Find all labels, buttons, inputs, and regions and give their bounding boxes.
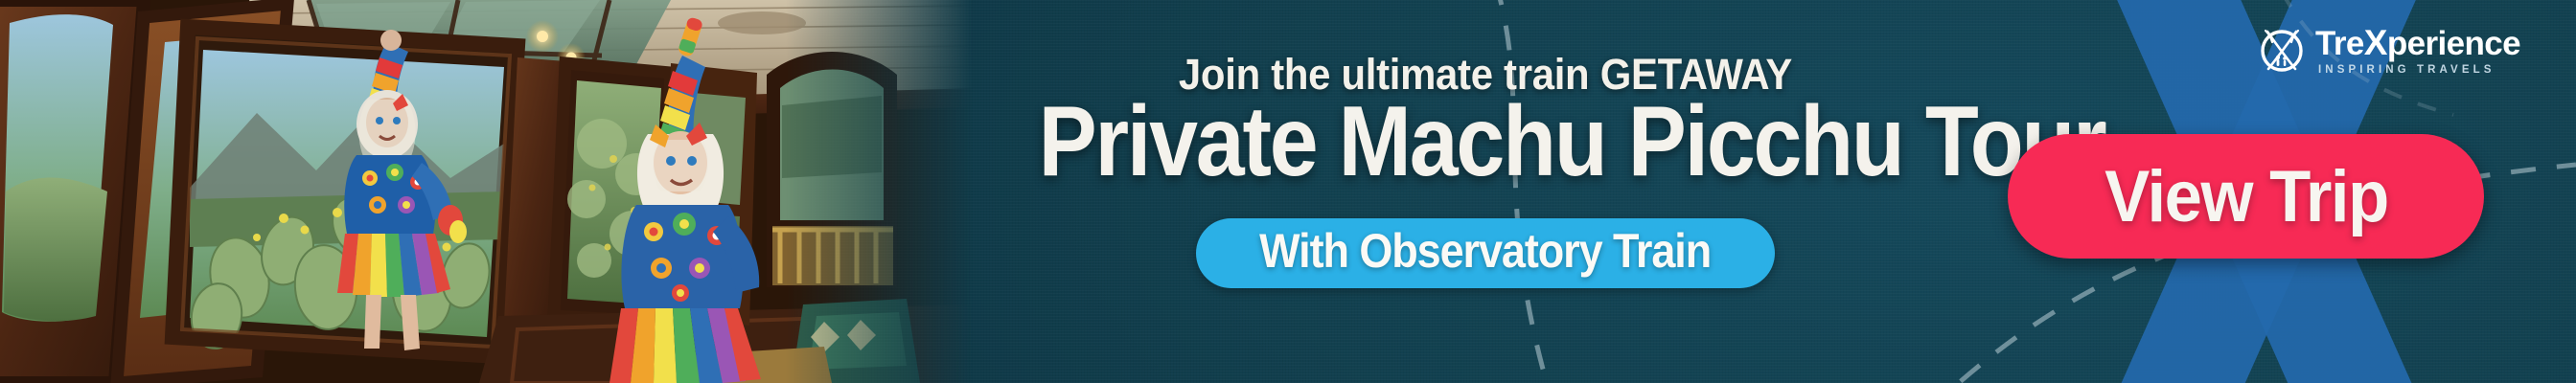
- logo-name-part1: Tre: [2315, 25, 2364, 62]
- headline-block: Join the ultimate train GETAWAY Private …: [977, 0, 2012, 383]
- logo-name-part2: perience: [2387, 25, 2520, 62]
- view-trip-button[interactable]: View Trip: [2008, 134, 2484, 259]
- crossed-trekking-poles-circle-icon: [2257, 26, 2307, 76]
- logo-tagline: INSPIRING TRAVELS: [2318, 65, 2520, 77]
- logo-wordmark: TreXperience: [2315, 25, 2520, 60]
- train-interior-illustration: [0, 0, 977, 383]
- trexperience-logo[interactable]: TreXperience INSPIRING TRAVELS: [2257, 25, 2520, 77]
- train-interior-photo: [0, 0, 977, 383]
- headline-text: Private Machu Picchu Tour: [1039, 92, 1933, 191]
- subtitle-pill: With Observatory Train: [1196, 218, 1774, 288]
- view-trip-label: View Trip: [2104, 155, 2388, 238]
- logo-name-x: X: [2364, 23, 2387, 62]
- subtitle-pill-label: With Observatory Train: [1260, 226, 1712, 277]
- promo-banner: Join the ultimate train GETAWAY Private …: [0, 0, 2576, 383]
